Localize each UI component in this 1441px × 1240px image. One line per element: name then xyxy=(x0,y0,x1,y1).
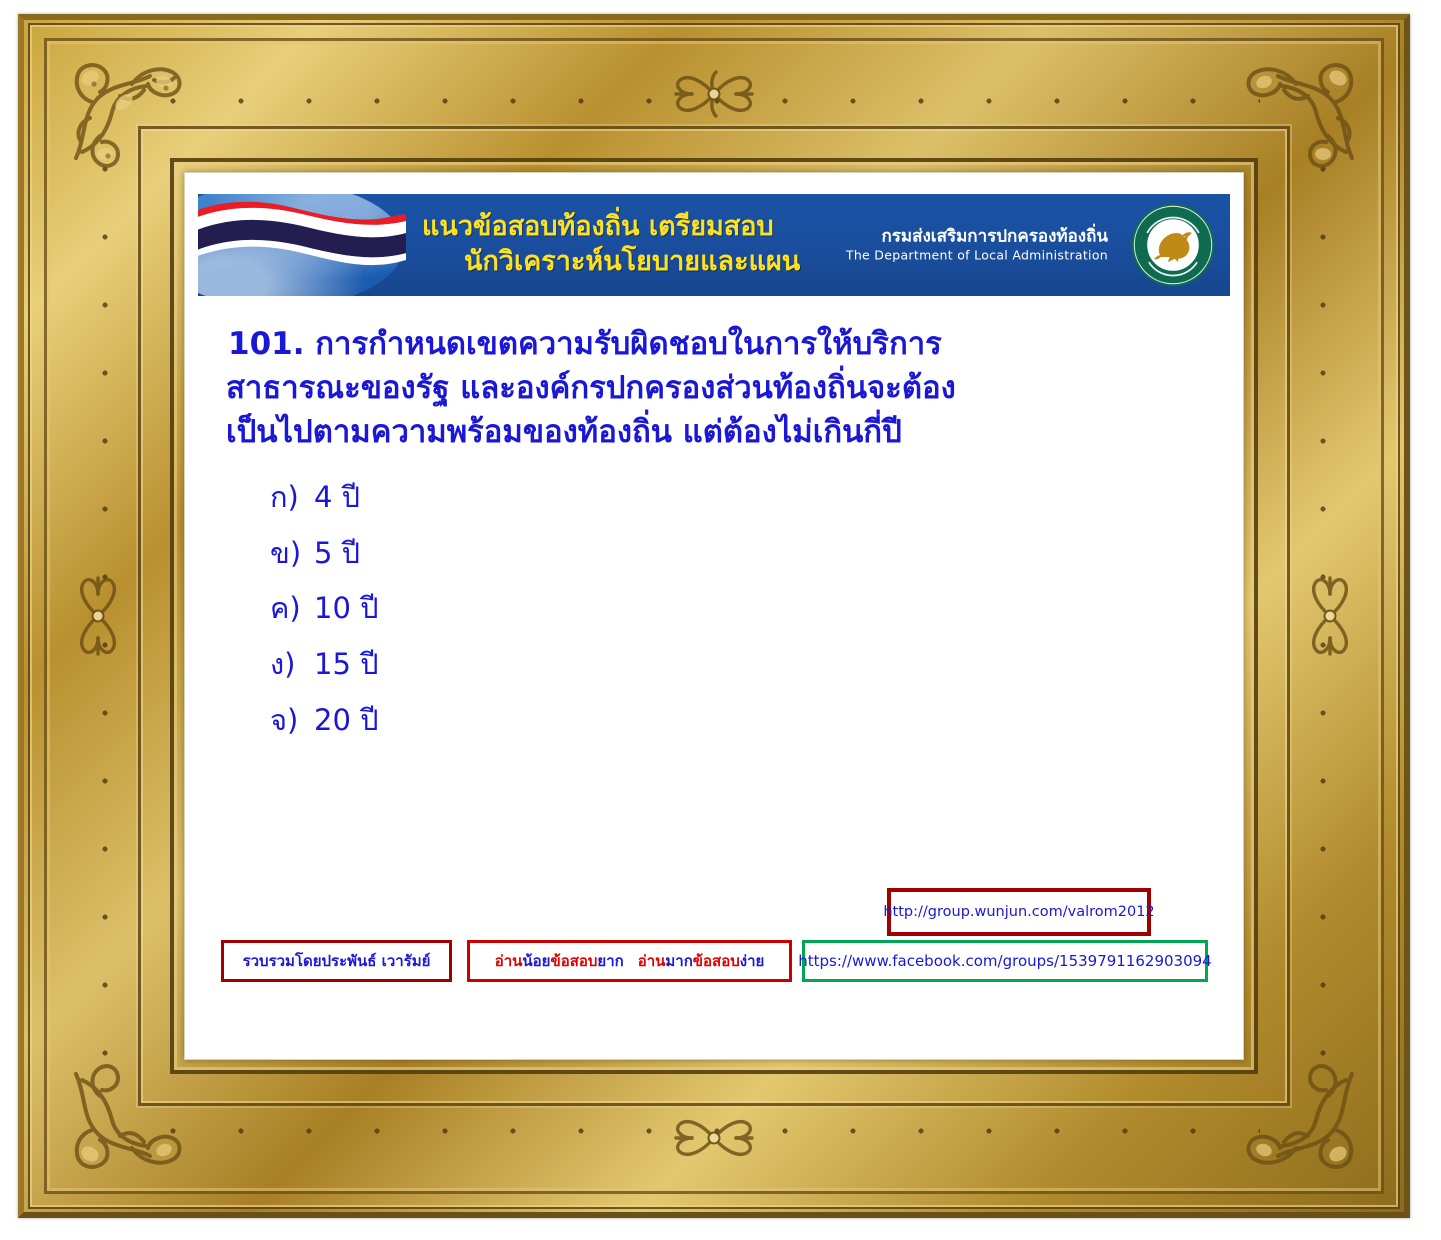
department-name-en: The Department of Local Administration xyxy=(846,248,1108,264)
author-credit-box: รวบรวมโดยประพันธ์ เวารัมย์ xyxy=(221,940,452,982)
author-credit-text: รวบรวมโดยประพันธ์ เวารัมย์ xyxy=(243,949,431,973)
banner-title: แนวข้อสอบท้องถิ่น เตรียมสอบ นักวิเคราะห์… xyxy=(422,210,800,279)
motto-part-5: อ่าน xyxy=(638,949,666,973)
frame-punch-dot-band-bottom xyxy=(168,1126,1260,1136)
facebook-url-text: https://www.facebook.com/groups/15397911… xyxy=(798,952,1211,970)
thai-flag-icon xyxy=(198,194,410,296)
acanthus-corner-ornament-icon xyxy=(1232,1042,1382,1192)
choice-key-b: ข) xyxy=(270,526,314,582)
picture-frame: แนวข้อสอบท้องถิ่น เตรียมสอบ นักวิเคราะห์… xyxy=(18,14,1410,1218)
choice-key-e: จ) xyxy=(270,693,314,749)
group-url-box[interactable]: http://group.wunjun.com/valrom2012 xyxy=(887,888,1151,936)
choice-label-b: 5 ปี xyxy=(314,536,360,570)
choice-label-c: 10 ปี xyxy=(314,591,379,625)
choice-key-d: ง) xyxy=(270,637,314,693)
motto-part-1: อ่าน xyxy=(495,949,523,973)
choice-option-b[interactable]: ข)5 ปี xyxy=(270,526,1230,582)
choice-key-a: ก) xyxy=(270,470,314,526)
motto-box: อ่านน้อยข้อสอบยากอ่านมากข้อสอบง่าย xyxy=(467,940,792,982)
acanthus-corner-ornament-icon xyxy=(46,1042,196,1192)
banner-title-line1: แนวข้อสอบท้องถิ่น เตรียมสอบ xyxy=(422,211,774,242)
choice-label-d: 15 ปี xyxy=(314,647,379,681)
question-line-3: เป็นไปตามความพร้อมของท้องถิ่น แต่ต้องไม่… xyxy=(226,410,1228,454)
motto-part-4: ยาก xyxy=(597,949,623,973)
motto-part-7: ข้อสอบ xyxy=(693,949,740,973)
choice-option-a[interactable]: ก)4 ปี xyxy=(270,470,1230,526)
acanthus-corner-ornament-icon xyxy=(46,40,196,190)
floral-rosette-ornament-icon xyxy=(654,1106,774,1170)
floral-rosette-ornament-icon xyxy=(66,556,130,676)
choice-label-e: 20 ปี xyxy=(314,703,379,737)
question-line-1: 101. การกำหนดเขตความรับผิดชอบในการให้บริ… xyxy=(228,322,1228,366)
motto-part-6: มาก xyxy=(665,949,692,973)
department-name: กรมส่งเสริมการปกครองท้องถิ่น The Departm… xyxy=(846,226,1108,264)
answer-choices: ก)4 ปี ข)5 ปี ค)10 ปี ง)15 ปี จ)20 ปี xyxy=(270,470,1230,748)
acanthus-corner-ornament-icon xyxy=(1232,40,1382,190)
banner-title-line2: นักวิเคราะห์นโยบายและแผน xyxy=(422,245,800,280)
choice-label-a: 4 ปี xyxy=(314,480,360,514)
frame-mat: แนวข้อสอบท้องถิ่น เตรียมสอบ นักวิเคราะห์… xyxy=(184,172,1244,1060)
motto-part-3: ข้อสอบ xyxy=(550,949,597,973)
header-banner: แนวข้อสอบท้องถิ่น เตรียมสอบ นักวิเคราะห์… xyxy=(198,194,1230,296)
floral-rosette-ornament-icon xyxy=(654,62,774,126)
frame-punch-dot-band-right xyxy=(1318,164,1328,1068)
footer-links: http://group.wunjun.com/valrom2012 รวบรว… xyxy=(198,888,1230,1008)
choice-key-c: ค) xyxy=(270,581,314,637)
department-name-th: กรมส่งเสริมการปกครองท้องถิ่น xyxy=(846,226,1108,247)
motto-part-8: ง่าย xyxy=(740,949,765,973)
facebook-url-box[interactable]: https://www.facebook.com/groups/15397911… xyxy=(802,940,1208,982)
question-text: 101. การกำหนดเขตความรับผิดชอบในการให้บริ… xyxy=(228,322,1228,454)
choice-option-e[interactable]: จ)20 ปี xyxy=(270,693,1230,749)
slide-page: แนวข้อสอบท้องถิ่น เตรียมสอบ นักวิเคราะห์… xyxy=(198,194,1230,1042)
group-url-text: http://group.wunjun.com/valrom2012 xyxy=(883,904,1154,920)
choice-option-c[interactable]: ค)10 ปี xyxy=(270,581,1230,637)
motto-part-2: น้อย xyxy=(522,949,550,973)
frame-punch-dot-band-left xyxy=(100,164,110,1068)
question-line-2: สาธารณะของรัฐ และองค์กรปกครองส่วนท้องถิ่… xyxy=(226,366,1228,410)
frame-punch-dot-band-top xyxy=(168,96,1260,106)
choice-option-d[interactable]: ง)15 ปี xyxy=(270,637,1230,693)
floral-rosette-ornament-icon xyxy=(1298,556,1362,676)
thai-flag-image xyxy=(198,194,410,296)
department-seal-icon xyxy=(1130,202,1216,288)
